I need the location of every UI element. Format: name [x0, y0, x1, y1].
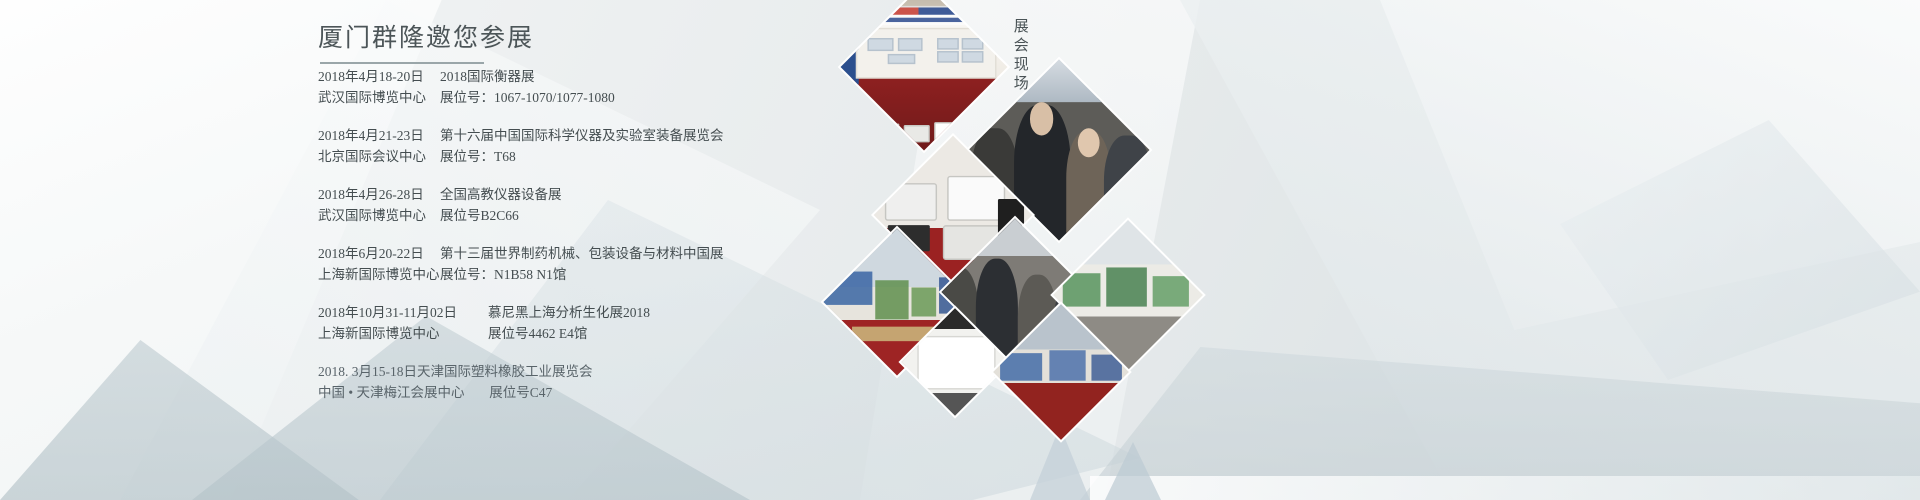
event-venue: 中国 • 天津梅江会展中心 [318, 385, 464, 400]
title-underline [320, 62, 484, 64]
event-date: 2018年10月31-11月02日 [318, 302, 488, 323]
section-label-vertical: 展会现场 [1010, 18, 1029, 94]
bottom-band [1090, 476, 1920, 500]
event-date: 2018年6月20-22日 [318, 243, 440, 264]
background-facet [1180, 0, 1920, 500]
background-facet [1080, 330, 1920, 500]
event-name: 慕尼黑上海分析生化展2018 [488, 302, 650, 323]
event-venue: 武汉国际博览中心 [318, 205, 440, 226]
event-date: 2018. 3月15-18日天津国际塑料橡胶工业展览会 [318, 364, 593, 379]
event-venue: 武汉国际博览中心 [318, 87, 440, 108]
event-booth: 展位号：1067-1070/1077-1080 [440, 87, 615, 108]
event-name: 第十六届中国国际科学仪器及实验室装备展览会 [440, 125, 724, 146]
event-date: 2018年4月26-28日 [318, 184, 440, 205]
event-venue: 上海新国际博览中心 [318, 323, 488, 344]
background-facet [1560, 120, 1920, 380]
event-venue: 北京国际会议中心 [318, 146, 440, 167]
page-title: 厦门群隆邀您参展 [318, 24, 534, 54]
event-name: 2018国际衡器展 [440, 66, 535, 87]
event-name: 第十三届世界制药机械、包装设备与材料中国展 [440, 243, 724, 264]
event-date: 2018年4月21-23日 [318, 125, 440, 146]
event-date: 2018年4月18-20日 [318, 66, 440, 87]
event-booth: 展位号C47 [489, 385, 552, 400]
decorative-triangle [1105, 442, 1161, 500]
background-facet [1380, 0, 1920, 330]
event-booth: 展位号4462 E4馆 [488, 323, 587, 344]
event-booth: 展位号：T68 [440, 146, 516, 167]
collage-photo-booth-banner [841, 0, 1008, 150]
event-venue: 上海新国际博览中心 [318, 264, 440, 285]
event-booth: 展位号：N1B58 N1馆 [440, 264, 566, 285]
event-booth: 展位号B2C66 [440, 205, 519, 226]
banner-stage: 厦门群隆邀您参展 2018年4月18-20日 2018国际衡器展 武汉国际博览中… [0, 0, 1920, 500]
event-name: 全国高教仪器设备展 [440, 184, 562, 205]
